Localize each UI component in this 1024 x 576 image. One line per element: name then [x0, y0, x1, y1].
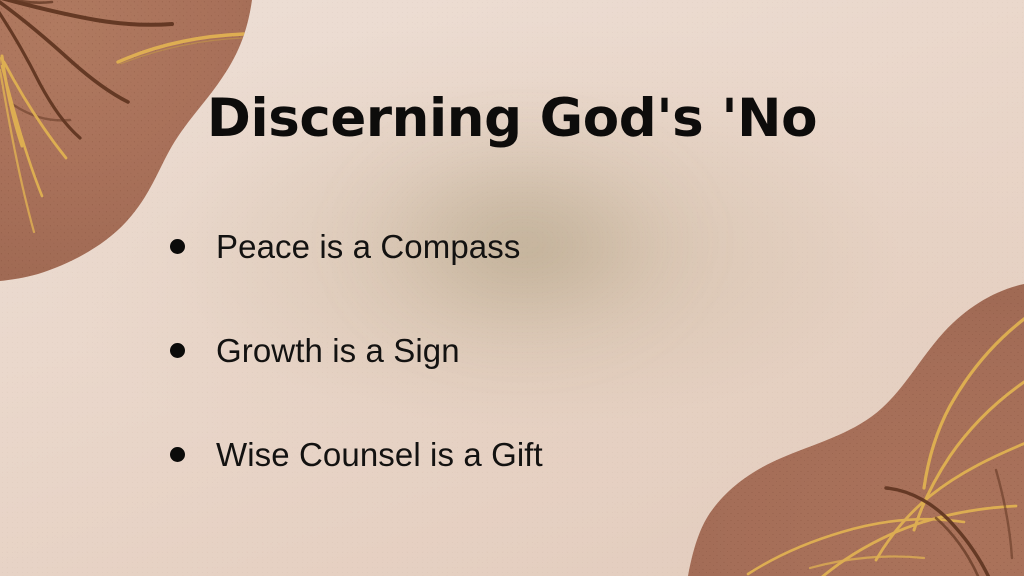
bullet-item-label: Wise Counsel is a Gift [216, 438, 543, 471]
slide-content: Discerning God's 'No Peace is a Compass … [0, 0, 1024, 576]
bullet-point-icon [170, 239, 185, 254]
bullet-list: Peace is a Compass Growth is a Sign Wise… [170, 222, 543, 478]
bullet-item-label: Peace is a Compass [216, 230, 520, 263]
list-item: Wise Counsel is a Gift [170, 430, 543, 478]
list-item: Peace is a Compass [170, 222, 543, 270]
bullet-item-label: Growth is a Sign [216, 334, 460, 367]
bullet-point-icon [170, 447, 185, 462]
presentation-slide: Discerning God's 'No Peace is a Compass … [0, 0, 1024, 576]
list-item: Growth is a Sign [170, 326, 543, 374]
page-title: Discerning God's 'No [0, 88, 1024, 149]
bullet-point-icon [170, 343, 185, 358]
